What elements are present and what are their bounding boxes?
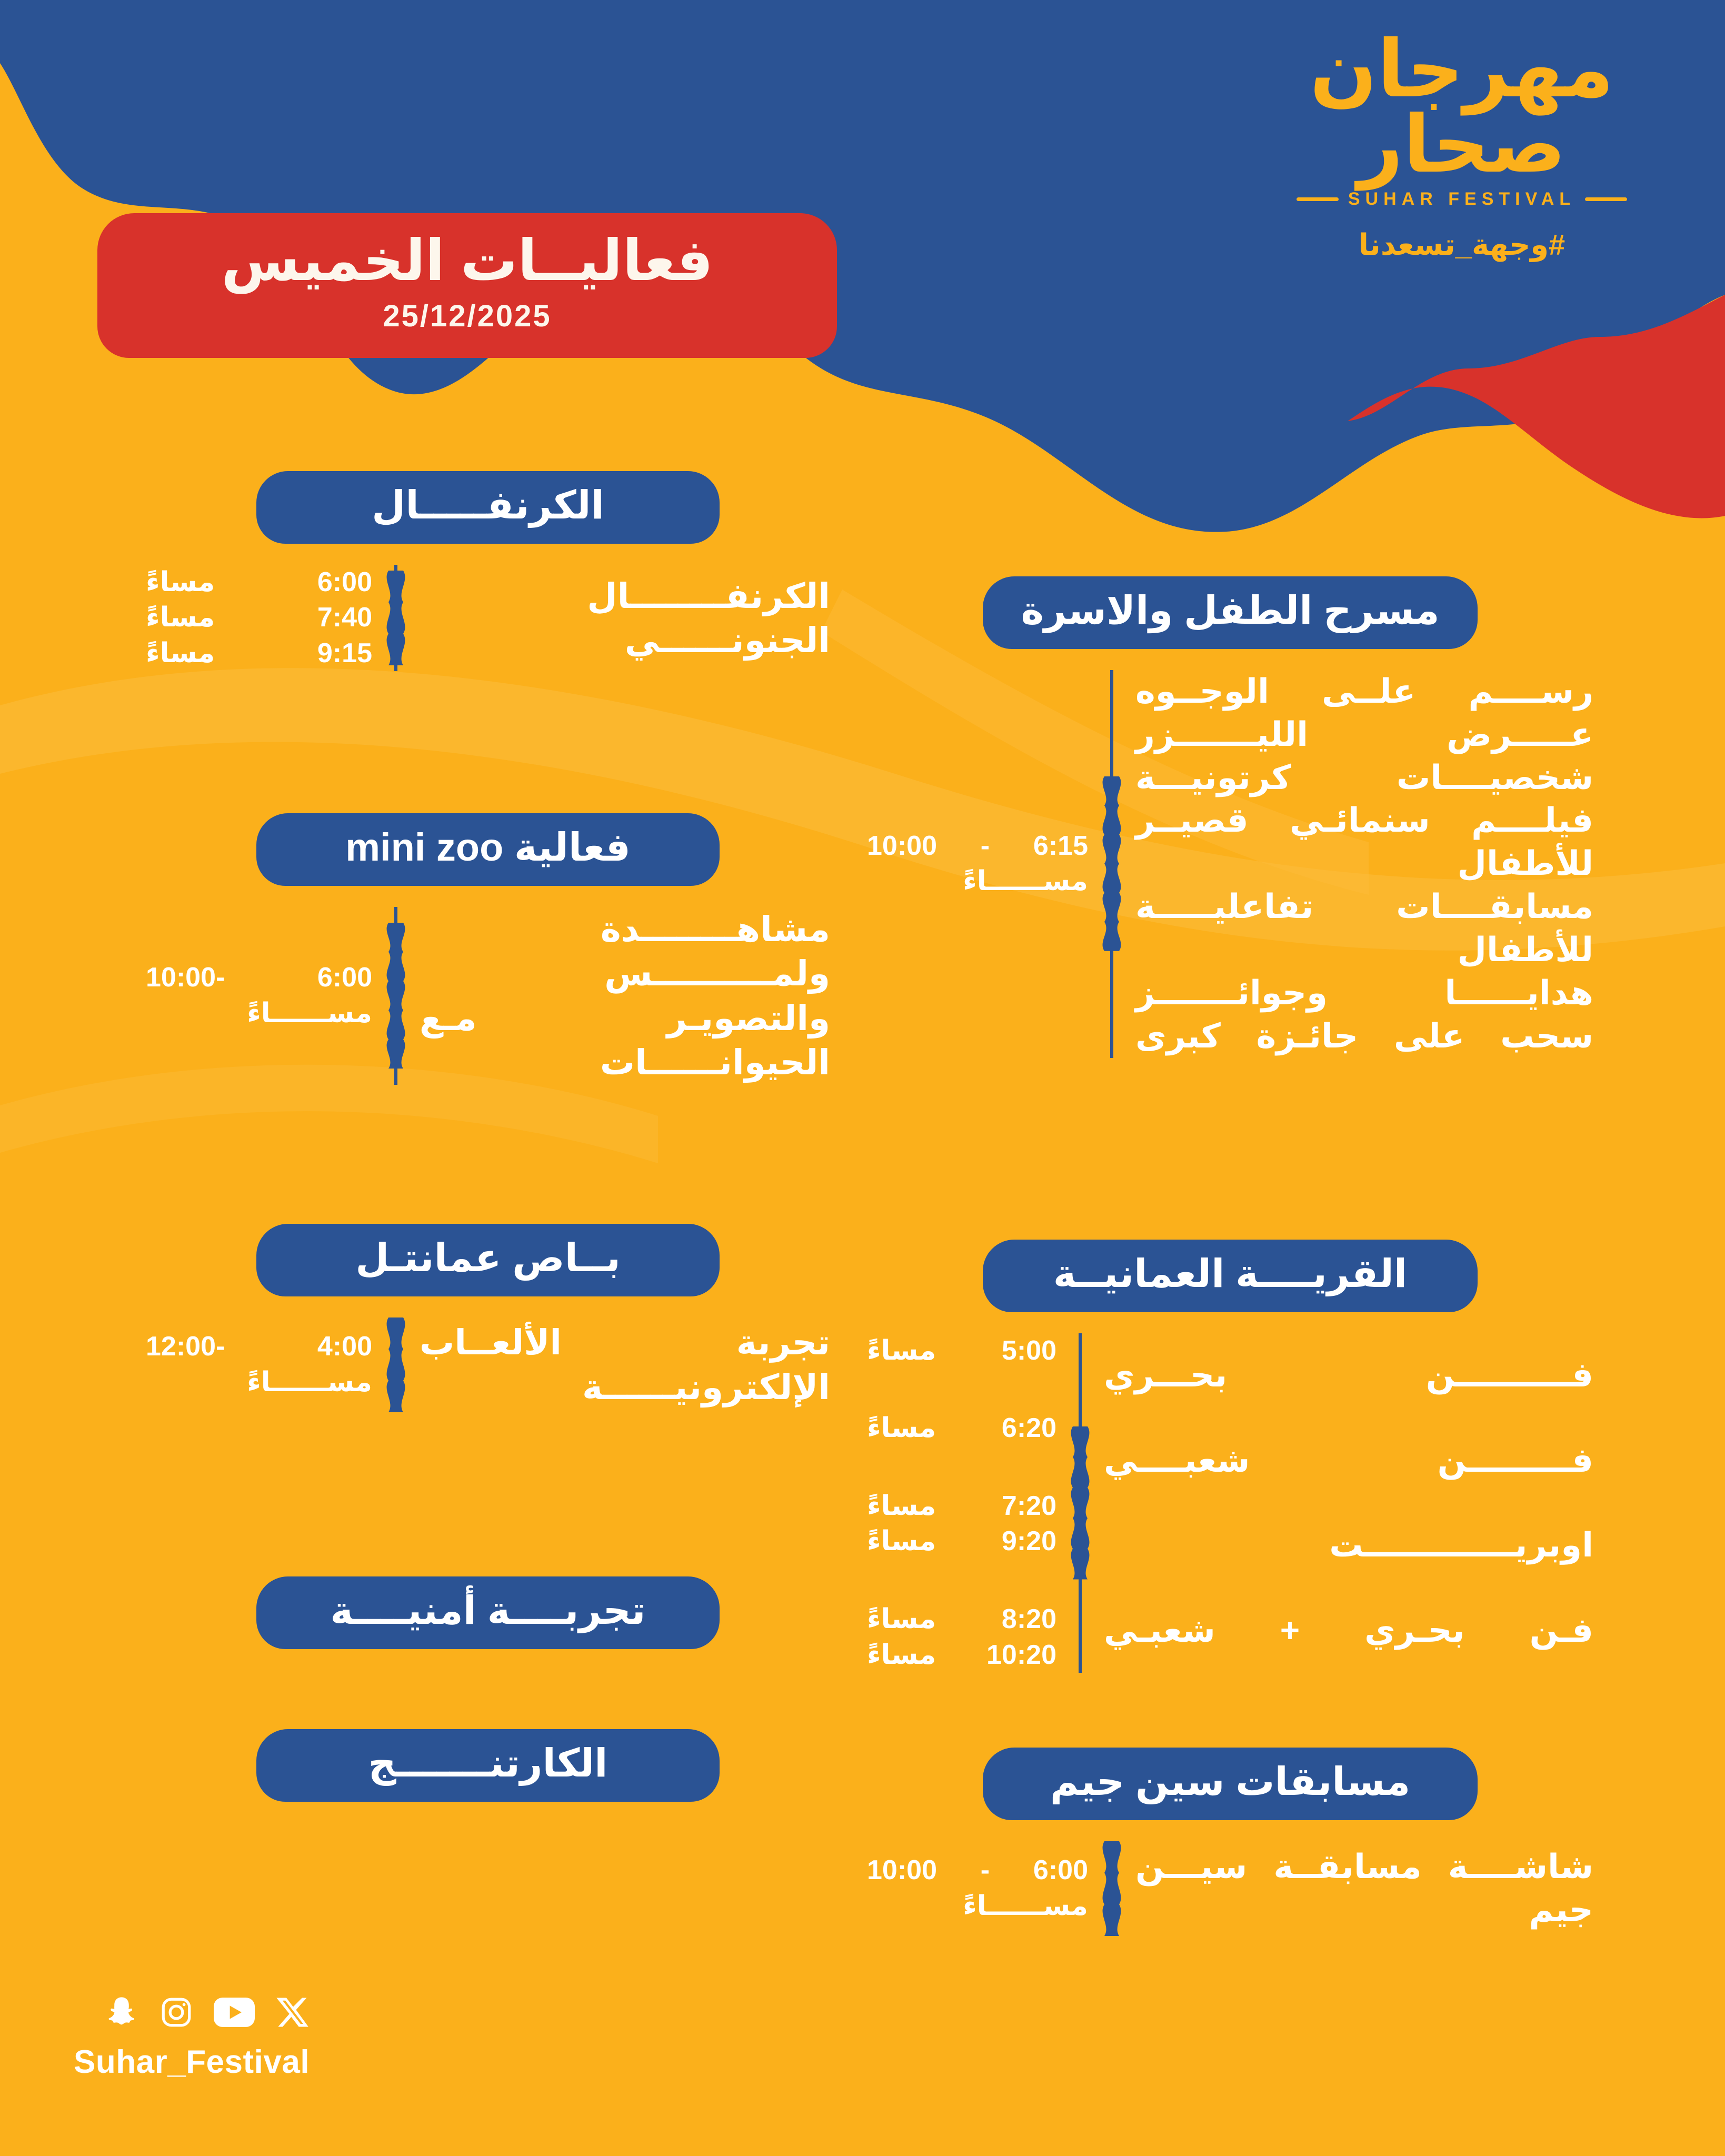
row-gap <box>867 1369 1056 1411</box>
event-description: فـن بحـري + شعبـي <box>1104 1609 1593 1652</box>
event-description: اوبريـــــــــــــت <box>1104 1524 1593 1567</box>
section-badge-wrap: القريــــة العمانيــة <box>867 1240 1593 1312</box>
schedule-section: الكارتنـــــــج <box>146 1729 830 1802</box>
squiggle-connector <box>1098 1841 1125 1936</box>
squiggle-connector <box>1098 776 1125 951</box>
instagram-icon[interactable] <box>159 1995 194 2030</box>
event-time: 6:20 مساءً <box>867 1411 1056 1446</box>
event-time: 5:00 مساءً <box>867 1333 1056 1369</box>
section-badge-wrap: بــاص عمانتـل <box>146 1224 830 1296</box>
row-gap <box>867 1446 1056 1489</box>
connector <box>1088 1841 1135 1936</box>
row-gap <box>1104 1567 1593 1609</box>
section-badge-wrap: مسرح الطفل والاسرة <box>867 576 1593 649</box>
section-badge[interactable]: مسابقات سين جيم <box>983 1748 1478 1820</box>
section-badge[interactable]: القريــــة العمانيــة <box>983 1240 1478 1312</box>
schedule-rows: رســــم علــى الوجــوهعـــــرض الليـــــ… <box>867 670 1593 1058</box>
schedule-section: تجربــــة أمنيــــة <box>146 1576 830 1649</box>
section-badge[interactable]: تجربــــة أمنيــــة <box>256 1576 720 1649</box>
event-time: مســــــاءً <box>146 996 372 1032</box>
event-description: فـــــــــن شعبــــي <box>1104 1439 1593 1482</box>
event-description: شخصيــــات كرتونيـــة <box>1135 756 1593 800</box>
row-gap <box>1104 1482 1593 1524</box>
time-column: 6:15 - 10:00مســــــاءً <box>867 670 1088 1058</box>
schedule-section: مسابقات سين جيمشاشــــة مسابقــة سيـــنج… <box>867 1748 1593 1936</box>
section-badge[interactable]: بــاص عمانتـل <box>256 1224 720 1296</box>
section-badge-wrap: الكرنفـــــال <box>146 471 830 544</box>
event-description: هدايــــــا وجوائـــــــز <box>1135 972 1593 1015</box>
time-column: 6:00 - 10:00مســــــاءً <box>867 1841 1088 1936</box>
section-badge-wrap: فعالية mini zoo <box>146 813 830 886</box>
event-description: تجربة الألعــاب <box>420 1320 830 1364</box>
schedule-columns: الكرنفـــــالالكرنفــــــــالالجنونـــــ… <box>0 0 1725 2156</box>
event-description: شاشــــة مسابقــة سيـــن <box>1135 1845 1593 1889</box>
social-handle: Suhar_Festival <box>74 2043 310 2081</box>
squiggle-connector <box>382 923 410 1069</box>
event-time: مســــــاءً <box>867 864 1088 900</box>
description-column: شاشــــة مسابقــة سيـــنجيم <box>1135 1841 1593 1936</box>
description-column: تجربة الألعــابالإلكترونيــــــة <box>420 1317 830 1412</box>
event-description: الحيوانــــــات <box>420 1040 830 1084</box>
connector <box>1056 1333 1104 1673</box>
x-icon[interactable] <box>275 1995 310 2030</box>
schedule-rows: الكرنفــــــــالالجنونــــــي6:00 مساءً7… <box>146 565 830 672</box>
youtube-icon[interactable] <box>214 1995 255 2030</box>
squiggle-connector <box>382 1317 410 1412</box>
description-column: الكرنفــــــــالالجنونــــــي <box>420 565 830 672</box>
squiggle-connector <box>1066 1426 1094 1580</box>
connector <box>372 565 420 672</box>
event-time: 6:00 - 10:00 <box>867 1853 1088 1889</box>
event-description: الإلكترونيــــــة <box>420 1365 830 1409</box>
event-time: 9:20 مساءً <box>867 1524 1056 1560</box>
event-time: مســــــاءً <box>867 1889 1088 1924</box>
event-time: 7:40 مساءً <box>146 600 372 636</box>
section-badge-wrap: الكارتنـــــــج <box>146 1729 830 1802</box>
time-column: 4:00 -12:00مســــــاءً <box>146 1317 372 1412</box>
event-description: عـــــرض الليـــــــزر <box>1135 713 1593 756</box>
description-column: فــــــــــن بحـــريفـــــــــن شعبــــي… <box>1104 1333 1593 1673</box>
snapchat-icon[interactable] <box>104 1995 139 2030</box>
row-gap <box>867 1560 1056 1602</box>
schedule-rows: تجربة الألعــابالإلكترونيــــــة4:00 -12… <box>146 1317 830 1412</box>
section-badge[interactable]: الكارتنـــــــج <box>256 1729 720 1802</box>
connector <box>1088 670 1135 1058</box>
event-time: 10:20 مساءً <box>867 1638 1056 1673</box>
event-description: للأطفال <box>1135 842 1593 885</box>
schedule-section: بــاص عمانتـلتجربة الألعــابالإلكترونيــ… <box>146 1224 830 1412</box>
row-gap <box>1104 1397 1593 1439</box>
event-time: 6:00 مساءً <box>146 565 372 601</box>
event-time: 7:20 مساءً <box>867 1489 1056 1524</box>
schedule-rows: مشاهــــــــدةولمــــــــــسوالتصويـر مـ… <box>146 907 830 1085</box>
event-description: والتصويـر مـع <box>420 996 830 1040</box>
event-time: 6:15 - 10:00 <box>867 829 1088 864</box>
event-description: فيلــــم سنمائـي قصيــر <box>1135 799 1593 842</box>
event-time: 4:00 -12:00 <box>146 1329 372 1365</box>
section-badge[interactable]: فعالية mini zoo <box>256 813 720 886</box>
description-column: مشاهــــــــدةولمــــــــــسوالتصويـر مـ… <box>420 907 830 1085</box>
event-description: جيم <box>1135 1889 1593 1932</box>
schedule-rows: فــــــــــن بحـــريفـــــــــن شعبــــي… <box>867 1333 1593 1673</box>
section-badge-wrap: مسابقات سين جيم <box>867 1748 1593 1820</box>
description-column: رســــم علــى الوجــوهعـــــرض الليـــــ… <box>1135 670 1593 1058</box>
time-column: 6:00 -10:00مســــــاءً <box>146 907 372 1085</box>
schedule-section: مسرح الطفل والاسرةرســــم علــى الوجــوه… <box>867 576 1593 1058</box>
schedule-section: الكرنفـــــالالكرنفــــــــالالجنونـــــ… <box>146 471 830 671</box>
event-time: 6:00 -10:00 <box>146 960 372 996</box>
schedule-section: فعالية mini zooمشاهــــــــدةولمــــــــ… <box>146 813 830 1085</box>
event-description: للأطفال <box>1135 929 1593 972</box>
social-links <box>74 1995 310 2030</box>
event-description: الكرنفــــــــال <box>420 574 830 618</box>
event-description: رســــم علــى الوجــوه <box>1135 670 1593 713</box>
event-description: فــــــــــن بحـــري <box>1104 1354 1593 1397</box>
event-description: ولمــــــــــس <box>420 951 830 995</box>
event-description: الجنونــــــي <box>420 618 830 662</box>
event-time: 9:15 مساءً <box>146 636 372 672</box>
section-badge-wrap: تجربــــة أمنيــــة <box>146 1576 830 1649</box>
schedule-section: القريــــة العمانيــةفــــــــــن بحـــر… <box>867 1240 1593 1673</box>
schedule-rows: شاشــــة مسابقــة سيـــنجيم6:00 - 10:00م… <box>867 1841 1593 1936</box>
event-description: مسابقــــات تفاعليـــــة <box>1135 885 1593 929</box>
event-time: 8:20 مساءً <box>867 1602 1056 1638</box>
connector <box>372 907 420 1085</box>
time-column: 5:00 مساءً6:20 مساءً7:20 مساءً9:20 مساءً… <box>867 1333 1056 1673</box>
squiggle-connector <box>382 571 410 665</box>
event-time: مســــــاءً <box>146 1365 372 1401</box>
footer: Suhar_Festival <box>74 1995 310 2081</box>
event-description: مشاهــــــــدة <box>420 907 830 951</box>
section-badge[interactable]: مسرح الطفل والاسرة <box>983 576 1478 649</box>
time-column: 6:00 مساءً7:40 مساءً9:15 مساءً <box>146 565 372 672</box>
event-description: سحب على جائـزة كبرى <box>1135 1015 1593 1058</box>
connector <box>372 1317 420 1412</box>
section-badge[interactable]: الكرنفـــــال <box>256 471 720 544</box>
